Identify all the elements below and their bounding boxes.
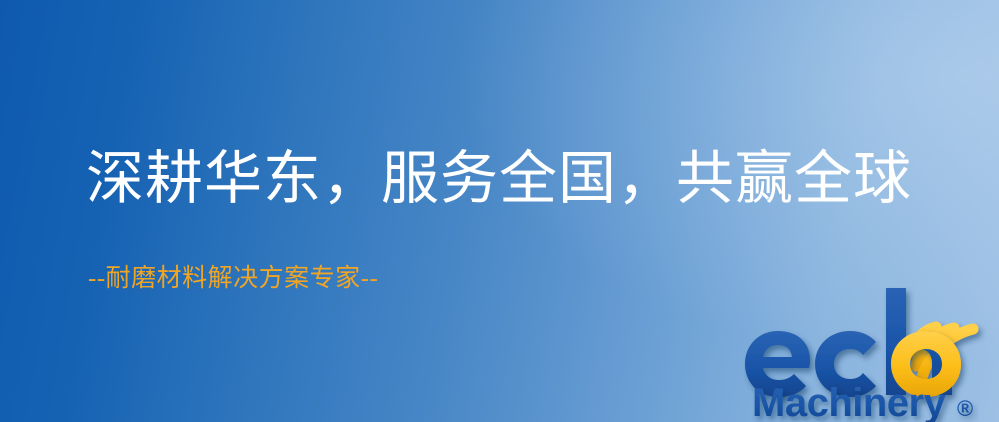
logo-tagline: Machinery [752,381,947,422]
registered-trademark-icon: ® [957,396,973,421]
banner-headline: 深耕华东，服务全国，共赢全球 [86,150,912,208]
hero-banner: 深耕华东，服务全国，共赢全球 --耐磨材料解决方案专家-- [0,0,999,422]
banner-subtitle: --耐磨材料解决方案专家-- [88,266,378,291]
echo-machinery-logo[interactable]: Machinery ® [744,286,999,422]
